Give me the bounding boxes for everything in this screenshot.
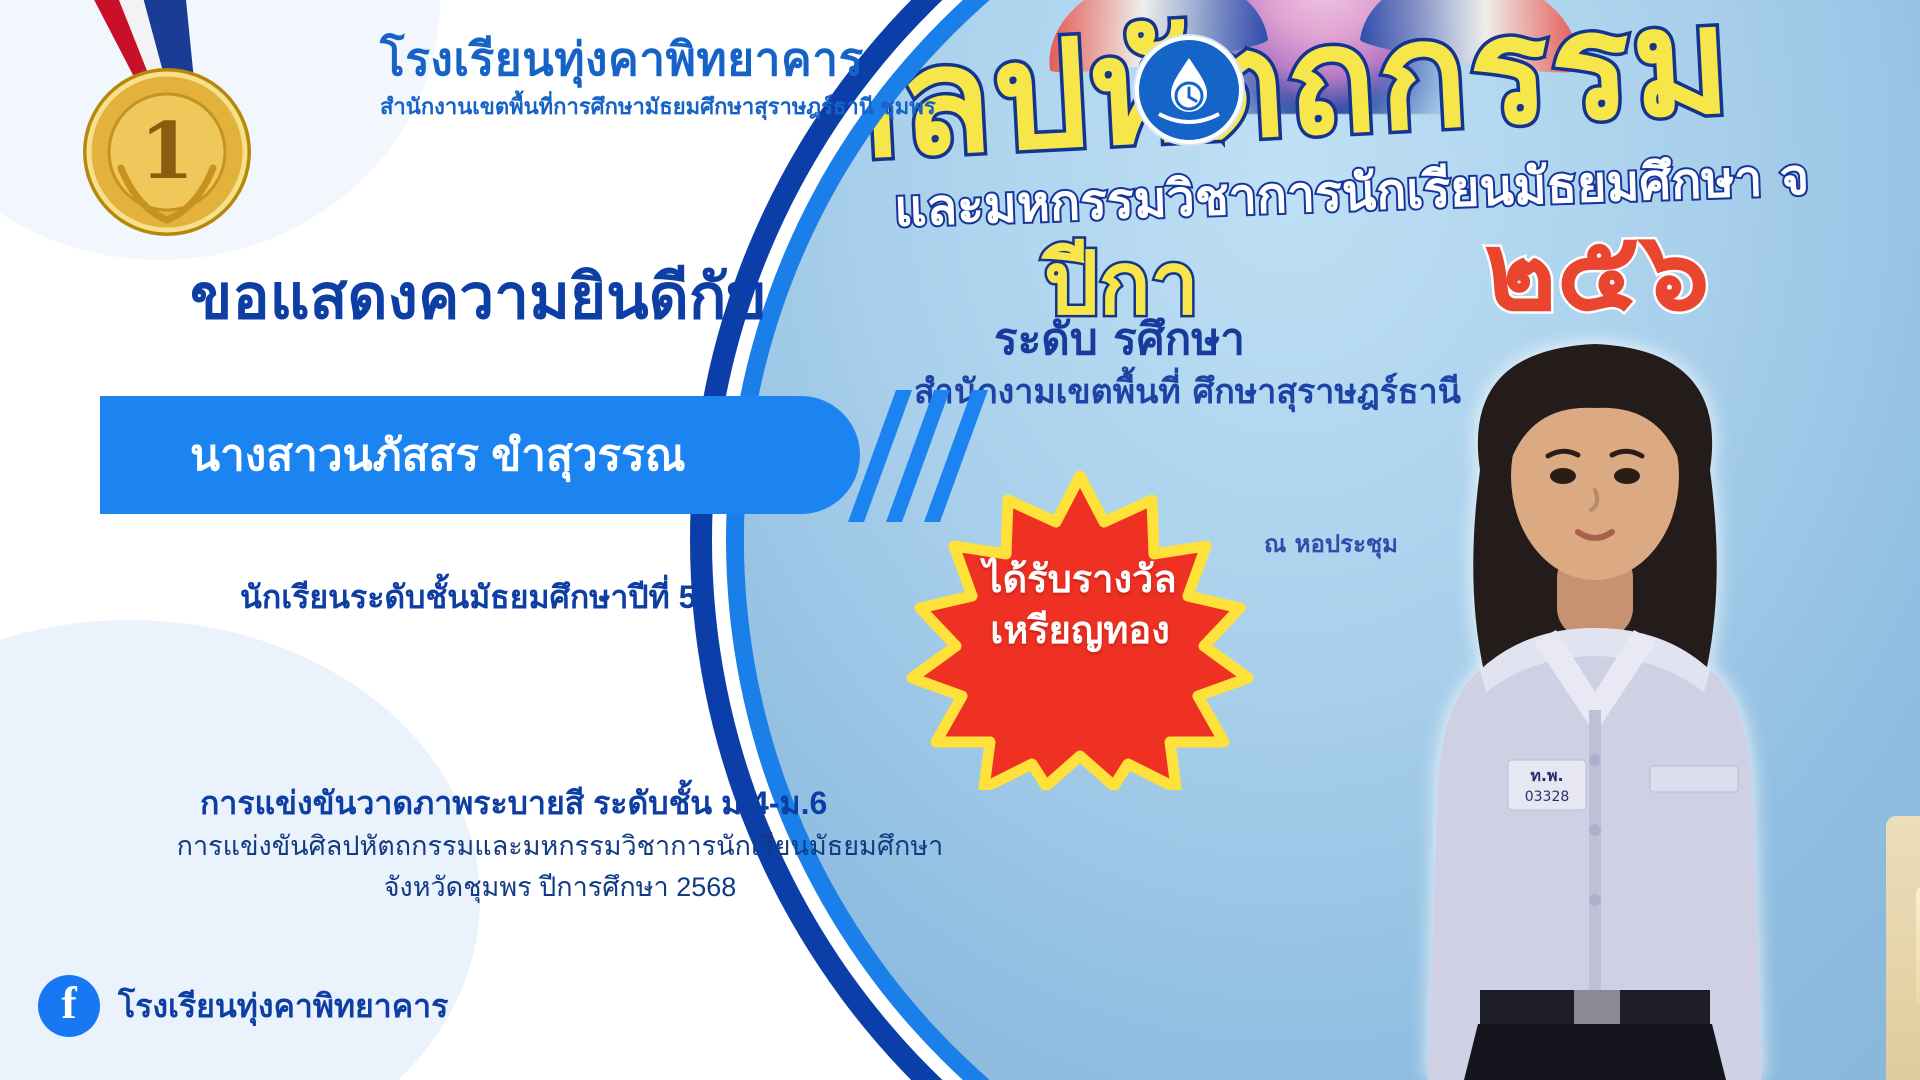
congratulation-poster: ศิลปหัตถกรรม และมหกรรมวิชาการนักเรียนมัธ…	[0, 0, 1920, 1080]
congratulations-heading: ขอแสดงความยินดีกับ	[190, 248, 766, 346]
facebook-page-name[interactable]: โรงเรียนทุ่งคาพิทยาคาร	[118, 981, 448, 1032]
facebook-icon[interactable]: f	[38, 975, 100, 1037]
student-name-banner: นางสาวนภัสสร ขำสุวรรณ	[100, 396, 860, 514]
competition-event-line-2: จังหวัดชุมพร ปีการศึกษา 2568	[60, 867, 1060, 908]
student-name: นางสาวนภัสสร ขำสุวรรณ	[100, 420, 686, 490]
school-droplet-logo-icon	[1143, 44, 1235, 136]
uniform-name-badge: ท.พ. 03328	[1508, 760, 1586, 810]
competition-event-line-1: การแข่งขันศิลปหัตถกรรมและมหกรรมวิชาการนั…	[60, 826, 1060, 867]
award-starburst	[900, 470, 1260, 790]
school-logo	[1135, 36, 1243, 144]
competition-title: การแข่งขันวาดภาพระบายสี ระดับชั้น ม.4-ม.…	[200, 778, 827, 829]
student-photo-cutout: ท.พ. 03328	[1360, 290, 1830, 1080]
gold-medal-icon: 1	[55, 0, 285, 260]
svg-text:03328: 03328	[1525, 789, 1570, 805]
student-level: นักเรียนระดับชั้นมัธยมศึกษาปีที่ 5	[240, 572, 696, 623]
svg-text:ท.พ.: ท.พ.	[1530, 766, 1563, 785]
svg-text:1: 1	[140, 106, 194, 197]
facebook-footer[interactable]: f โรงเรียนทุ่งคาพิทยาคาร	[38, 975, 448, 1037]
competition-event: การแข่งขันศิลปหัตถกรรมและมหกรรมวิชาการนั…	[60, 826, 1060, 907]
